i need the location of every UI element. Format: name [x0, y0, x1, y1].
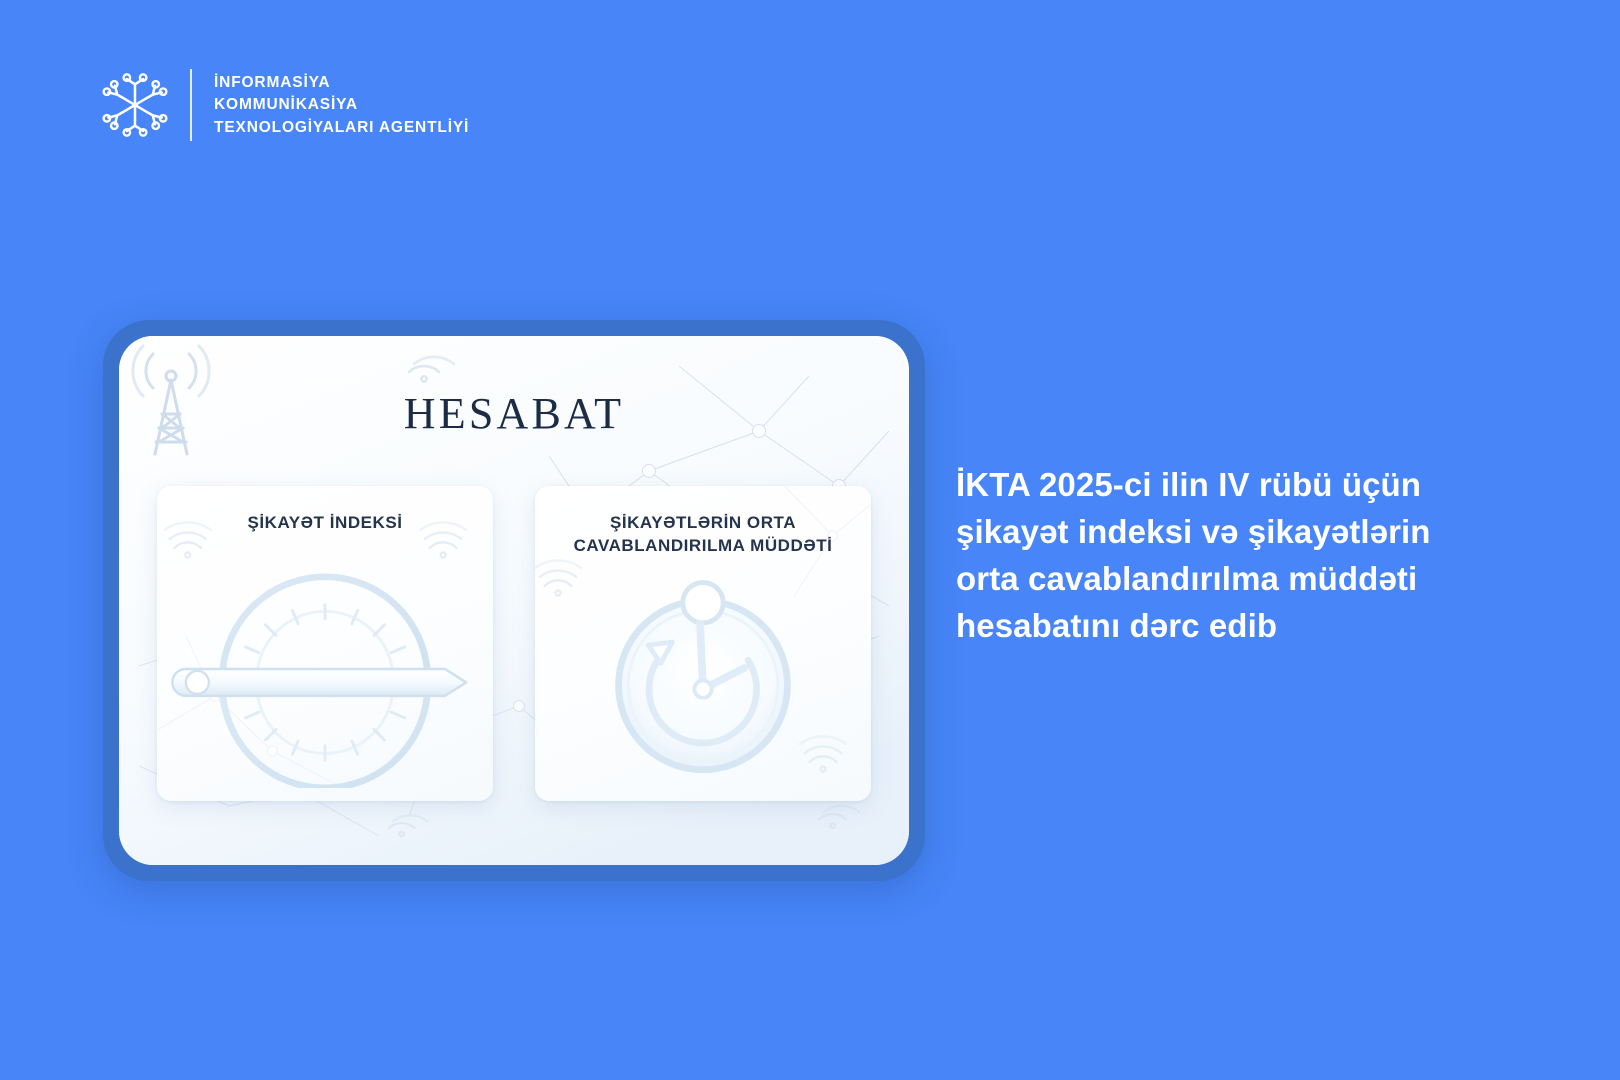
agency-logo: İNFORMASİYA KOMMUNİKASİYA TEXNOLOGİYALAR…	[98, 66, 469, 144]
logo-wordmark: İNFORMASİYA KOMMUNİKASİYA TEXNOLOGİYALAR…	[214, 74, 469, 136]
logo-line-1: İNFORMASİYA	[214, 74, 469, 91]
gauge-meter-icon	[157, 572, 493, 788]
tile-average-response-time[interactable]: ŞİKAYƏTLƏRİN ORTA CAVABLANDIRILMA MÜDDƏT…	[535, 486, 871, 801]
network-nodes-icon	[98, 66, 172, 144]
stopwatch-icon	[535, 572, 871, 788]
tile-label-average-response-time: ŞİKAYƏTLƏRİN ORTA CAVABLANDIRILMA MÜDDƏT…	[545, 512, 861, 558]
poster-canvas: İNFORMASİYA KOMMUNİKASİYA TEXNOLOGİYALAR…	[0, 0, 1620, 1080]
headline-text: İKTA 2025-ci ilin IV rübü üçün şikayət i…	[956, 462, 1456, 649]
report-poster: HESABAT	[119, 336, 909, 865]
poster-title: HESABAT	[119, 388, 909, 439]
logo-line-3: TEXNOLOGİYALARI AGENTLİYİ	[214, 119, 469, 136]
report-poster-frame: HESABAT	[103, 320, 925, 881]
metric-tiles: ŞİKAYƏT İNDEKSİ	[157, 486, 871, 801]
logo-line-2: KOMMUNİKASİYA	[214, 96, 469, 113]
logo-divider	[190, 69, 192, 141]
tile-label-complaint-index: ŞİKAYƏT İNDEKSİ	[167, 512, 483, 535]
tile-complaint-index[interactable]: ŞİKAYƏT İNDEKSİ	[157, 486, 493, 801]
